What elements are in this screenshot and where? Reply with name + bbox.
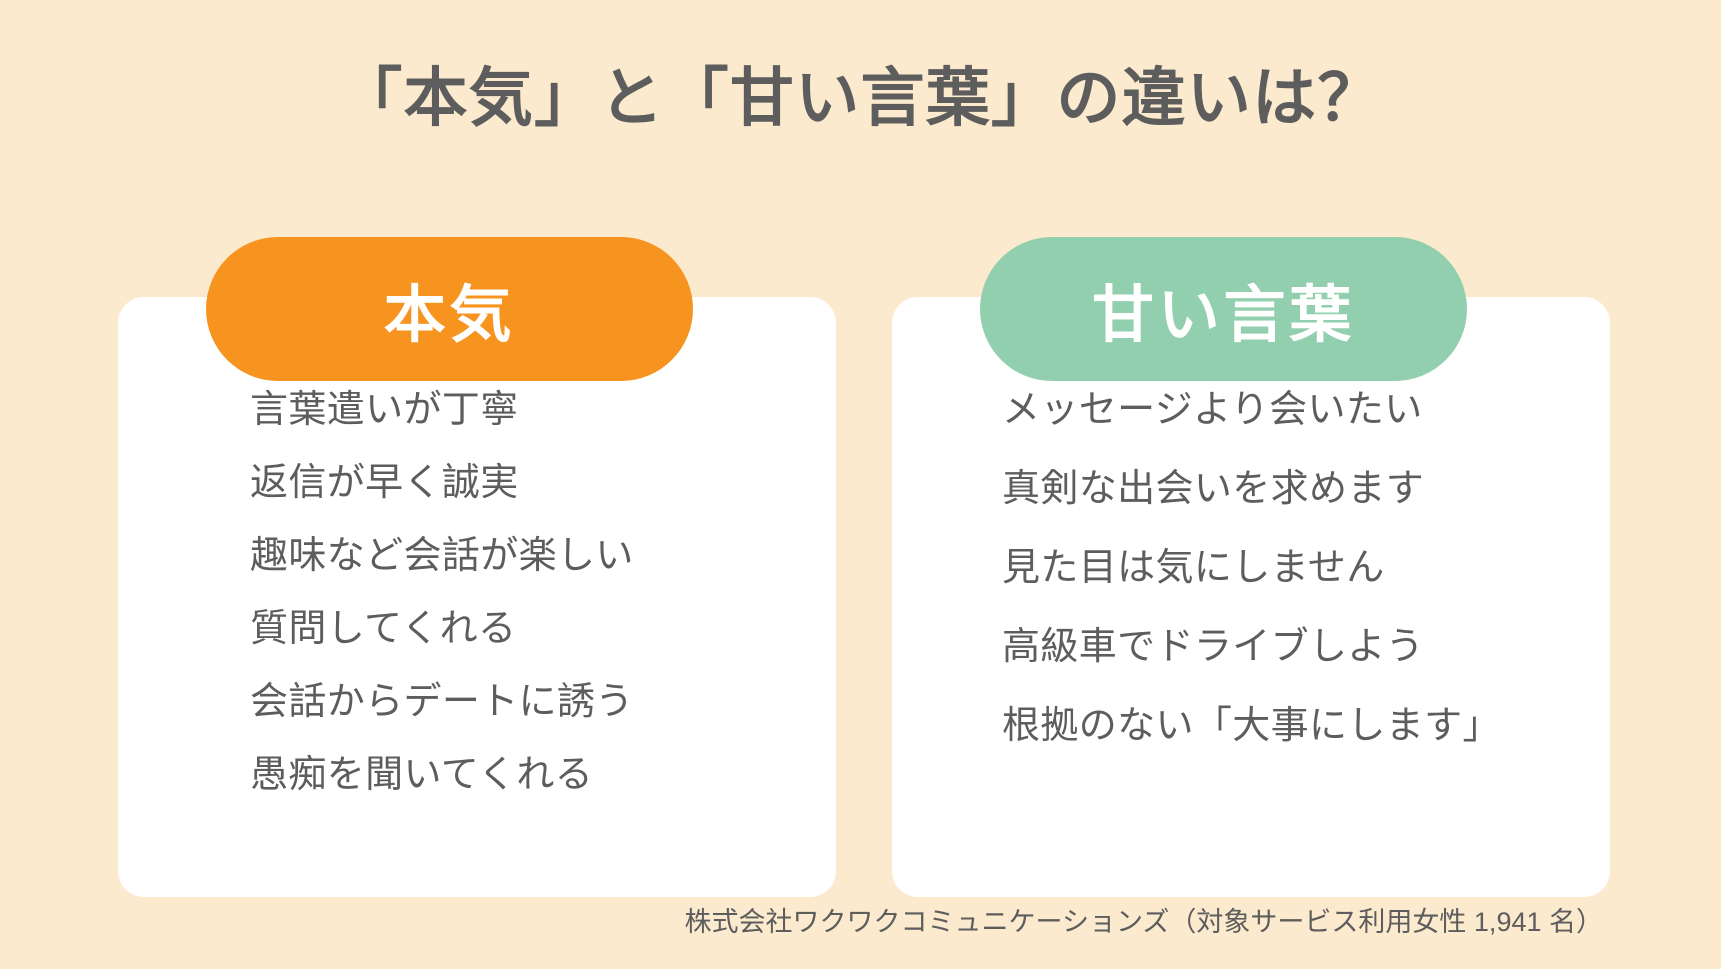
- list-item: 会話からデートに誘う: [250, 683, 836, 721]
- list-item: 見た目は気にしません: [1002, 549, 1610, 587]
- list-item: 高級車でドライブしよう: [1002, 628, 1610, 666]
- card-serious: 本気 言葉遣いが丁寧 返信が早く誠実 趣味など会話が楽しい 質問してくれる 会話…: [118, 297, 836, 897]
- list-item: 根拠のない「大事にします」: [1002, 707, 1610, 745]
- list-item: メッセージより会いたい: [1002, 391, 1610, 429]
- infographic-root: 「本気」と「甘い言葉」の違いは？ 本気 言葉遣いが丁寧 返信が早く誠実 趣味など…: [0, 0, 1721, 969]
- comparison-columns: 本気 言葉遣いが丁寧 返信が早く誠実 趣味など会話が楽しい 質問してくれる 会話…: [118, 297, 1610, 897]
- list-item: 愚痴を聞いてくれる: [250, 756, 836, 794]
- page-title: 「本気」と「甘い言葉」の違いは？: [0, 58, 1721, 138]
- badge-sweet-talk: 甘い言葉: [980, 237, 1467, 381]
- list-sweet-talk: メッセージより会いたい 真剣な出会いを求めます 見た目は気にしません 高級車でド…: [892, 391, 1610, 745]
- list-serious: 言葉遣いが丁寧 返信が早く誠実 趣味など会話が楽しい 質問してくれる 会話からデ…: [118, 391, 836, 794]
- list-item: 言葉遣いが丁寧: [250, 391, 836, 429]
- badge-serious: 本気: [206, 237, 693, 381]
- card-sweet-talk: 甘い言葉 メッセージより会いたい 真剣な出会いを求めます 見た目は気にしません …: [892, 297, 1610, 897]
- source-attribution: 株式会社ワクワクコミュニケーションズ（対象サービス利用女性 1,941 名）: [0, 900, 1721, 939]
- list-item: 質問してくれる: [250, 610, 836, 648]
- list-item: 真剣な出会いを求めます: [1002, 470, 1610, 508]
- list-item: 返信が早く誠実: [250, 464, 836, 502]
- list-item: 趣味など会話が楽しい: [250, 537, 836, 575]
